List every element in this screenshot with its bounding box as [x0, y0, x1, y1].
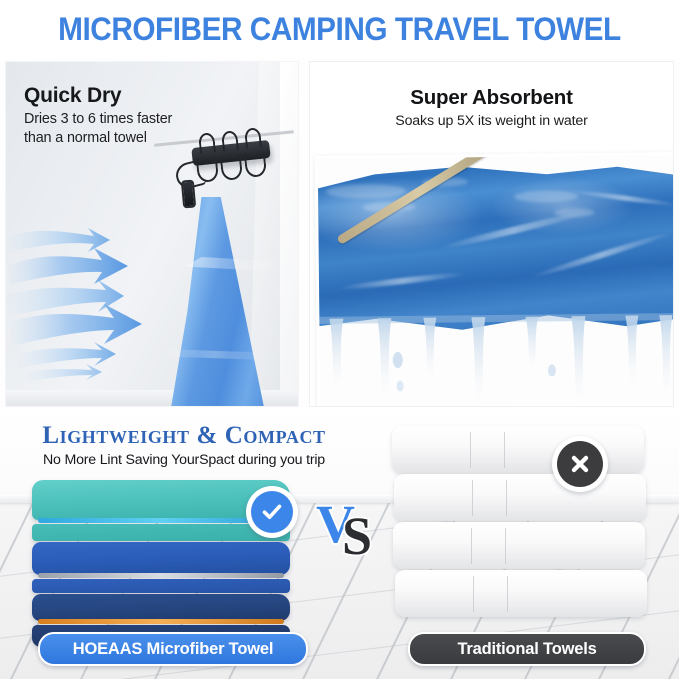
quick-dry-line-1: Dries 3 to 6 times faster — [24, 110, 224, 128]
airflow-arrows-icon — [6, 222, 206, 392]
wall-corner-edge-highlight — [280, 62, 298, 406]
microfiber-label-pill: HOEAAS Microfiber Towel — [38, 632, 308, 666]
lightweight-subtitle: No More Lint Saving YourSpact during you… — [0, 452, 368, 468]
microfiber-towel-stack — [32, 480, 304, 628]
super-absorbent-heading: Super Absorbent — [310, 86, 673, 110]
quick-dry-text-block: Quick Dry Dries 3 to 6 times faster than… — [24, 84, 224, 147]
check-circle-icon — [246, 486, 298, 538]
panel-quick-dry: Quick Dry Dries 3 to 6 times faster than… — [6, 62, 298, 406]
traditional-label-pill: Traditional Towels — [408, 632, 646, 666]
header-banner: MICROFIBER CAMPING TRAVEL TOWEL — [0, 0, 679, 58]
page-title: MICROFIBER CAMPING TRAVEL TOWEL — [58, 11, 621, 48]
lightweight-heading: Lightweight & Compact — [0, 422, 368, 450]
versus-label: V S — [316, 497, 386, 559]
quick-dry-line-2: than a normal towel — [24, 129, 224, 147]
list-item — [395, 570, 647, 617]
list-item — [32, 542, 290, 575]
wet-towel-photo — [315, 152, 673, 406]
versus-s: S — [342, 509, 372, 563]
panel-super-absorbent: Super Absorbent Soaks up 5X its weight i… — [310, 62, 673, 406]
infographic-page: MICROFIBER CAMPING TRAVEL TOWEL — [0, 0, 679, 679]
lightweight-text-block: Lightweight & Compact No More Lint Savin… — [0, 422, 368, 468]
list-item — [393, 522, 645, 569]
towel-trim — [38, 573, 284, 578]
list-item — [394, 474, 646, 521]
list-item — [32, 579, 290, 593]
water-drips-icon — [319, 311, 673, 406]
quick-dry-heading: Quick Dry — [24, 84, 224, 107]
carabiner-clip-icon — [181, 179, 196, 208]
super-absorbent-subtitle: Soaks up 5X its weight in water — [310, 113, 673, 129]
traditional-towel-stack — [392, 426, 658, 631]
list-item — [32, 594, 290, 621]
super-absorbent-text-block: Super Absorbent Soaks up 5X its weight i… — [310, 86, 673, 129]
x-circle-icon — [552, 436, 608, 492]
towel-trim — [38, 619, 284, 624]
